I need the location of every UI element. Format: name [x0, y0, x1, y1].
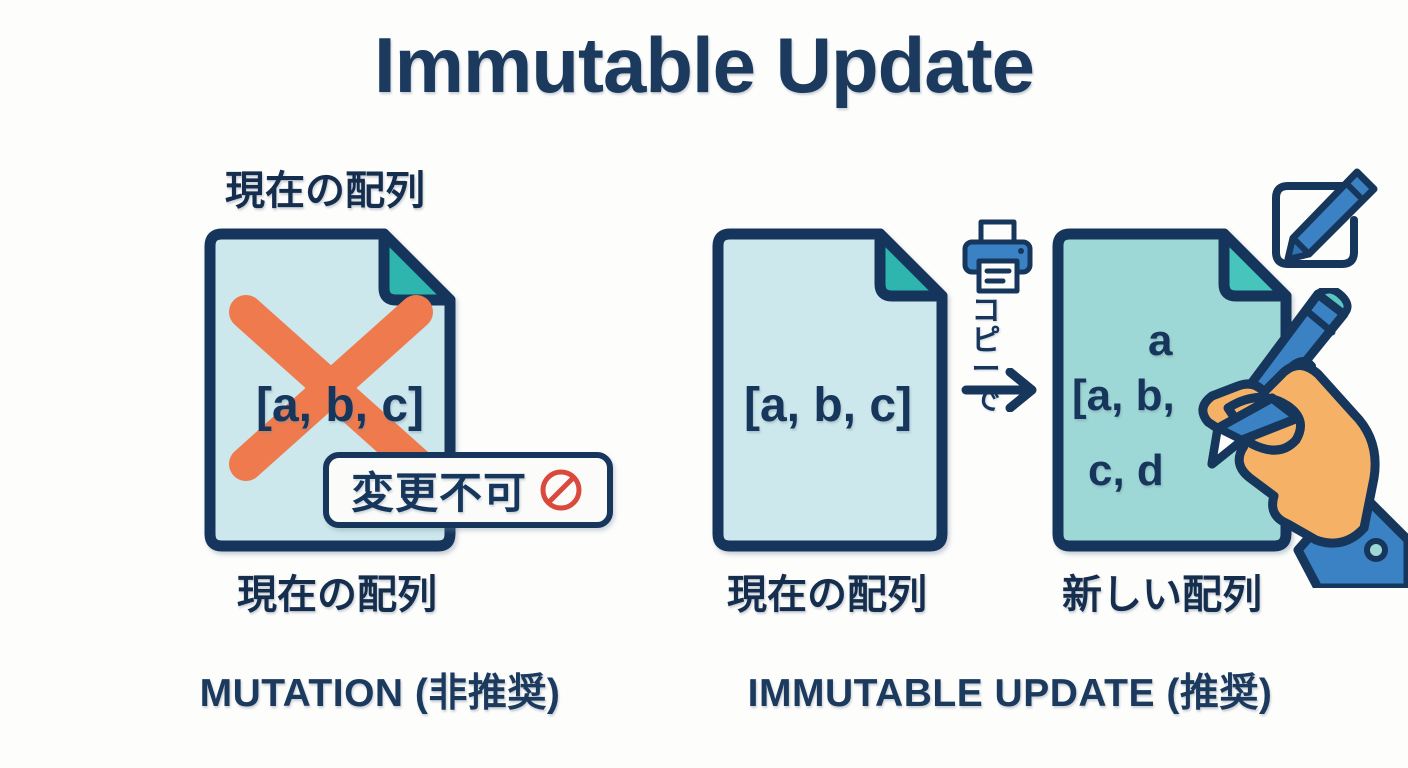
left-caption: MUTATION (非推奨) — [100, 662, 660, 718]
right-caption: IMMUTABLE UPDATE (推奨) — [700, 662, 1320, 718]
document-array-text-source: [a, b, c] — [744, 378, 912, 433]
left-top-label: 現在の配列 — [225, 158, 425, 216]
diagram-canvas: Immutable Update 現在の配列 [a, b, c] 変更不可 — [0, 0, 1408, 768]
page-title: Immutable Update — [0, 26, 1408, 104]
document-card-current-right: [a, b, c] — [708, 228, 958, 558]
document-array-text-left: [a, b, c] — [256, 378, 424, 433]
hand-with-pen-icon — [1168, 288, 1408, 593]
edit-square-icon — [1258, 168, 1383, 295]
arrow-right-icon — [960, 368, 1046, 417]
status-badge-label: 変更不可 — [351, 459, 527, 521]
left-bottom-label: 現在の配列 — [237, 562, 437, 620]
new-array-line-3: c, d — [1088, 446, 1164, 496]
new-array-line-2: [a, b, — [1072, 371, 1175, 421]
right-new-bottom-label: 新しい配列 — [1062, 562, 1262, 620]
right-source-bottom-label: 現在の配列 — [727, 562, 927, 620]
prohibition-icon — [537, 466, 585, 514]
status-badge-immutable: 変更不可 — [323, 452, 613, 528]
printer-icon — [957, 218, 1037, 303]
